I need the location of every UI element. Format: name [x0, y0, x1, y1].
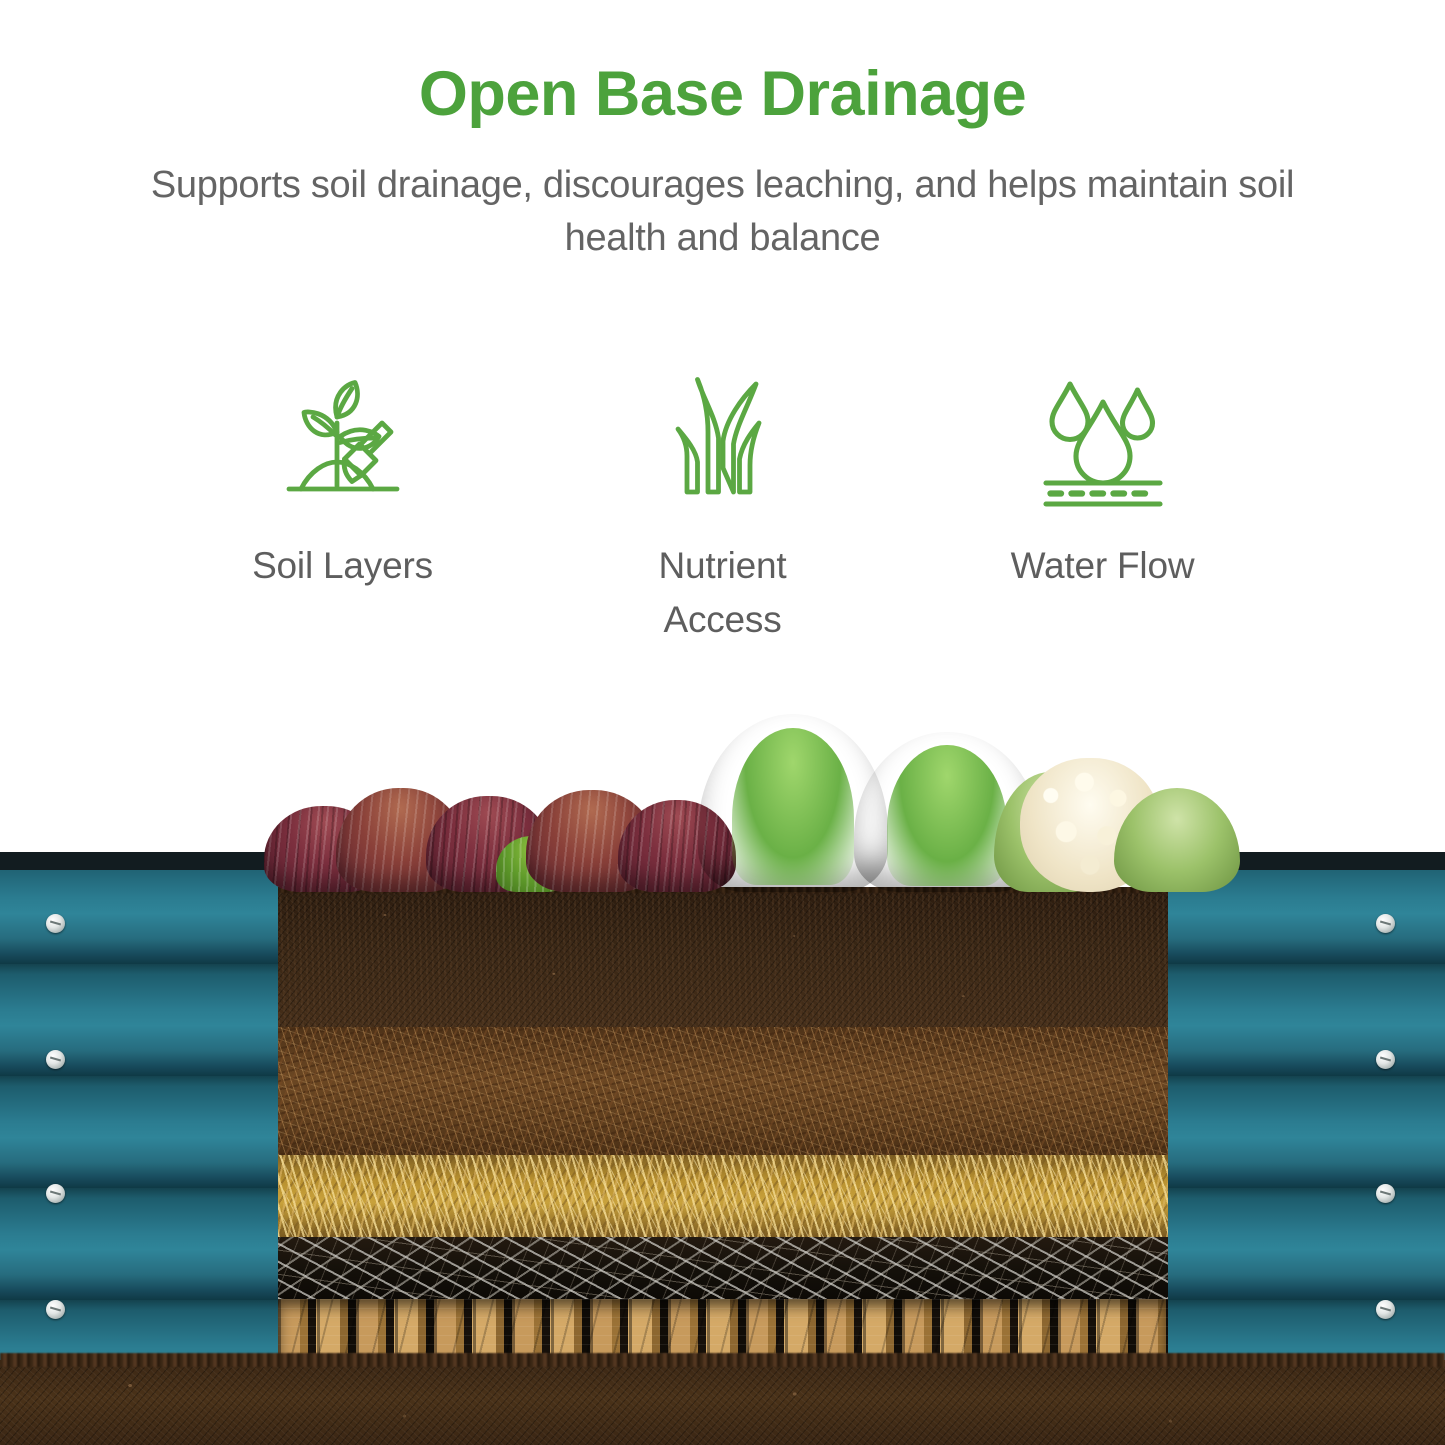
screw — [1376, 1184, 1395, 1203]
header: Open Base Drainage Supports soil drainag… — [0, 0, 1445, 264]
bed-rim-left — [0, 852, 296, 870]
screw — [46, 914, 65, 933]
soil-layer-twigs-branches — [278, 1237, 1168, 1299]
bed-panel-right — [1167, 852, 1445, 1362]
feature-label: Soil Layers — [153, 539, 533, 593]
water-droplets-icon — [913, 358, 1293, 523]
screw — [46, 1184, 65, 1203]
grass-blades-icon — [533, 358, 913, 523]
seedling-shovel-icon — [153, 358, 533, 523]
page-title: Open Base Drainage — [0, 60, 1445, 129]
feature-water-flow: Water Flow — [913, 358, 1293, 646]
soil-layer-topsoil — [278, 887, 1168, 1027]
feature-nutrient-access: Nutrient Access — [533, 358, 913, 646]
plant-row — [258, 700, 1188, 892]
soil-layer-straw — [278, 1155, 1168, 1237]
product-photo — [0, 660, 1445, 1445]
feature-label: Nutrient Access — [533, 539, 913, 646]
soil-cross-section — [278, 887, 1168, 1362]
ground-soil — [0, 1360, 1445, 1445]
soil-layer-compost-mulch — [278, 1027, 1168, 1155]
feature-icon-row: Soil Layers Nutrient Access — [0, 358, 1445, 646]
screw — [1376, 1300, 1395, 1319]
screw — [46, 1050, 65, 1069]
feature-label: Water Flow — [913, 539, 1293, 593]
page-subtitle: Supports soil drainage, discourages leac… — [133, 159, 1313, 264]
screw — [1376, 1050, 1395, 1069]
bed-panel-left — [0, 852, 296, 1362]
feature-soil-layers: Soil Layers — [153, 358, 533, 646]
screw — [46, 1300, 65, 1319]
screw — [1376, 914, 1395, 933]
